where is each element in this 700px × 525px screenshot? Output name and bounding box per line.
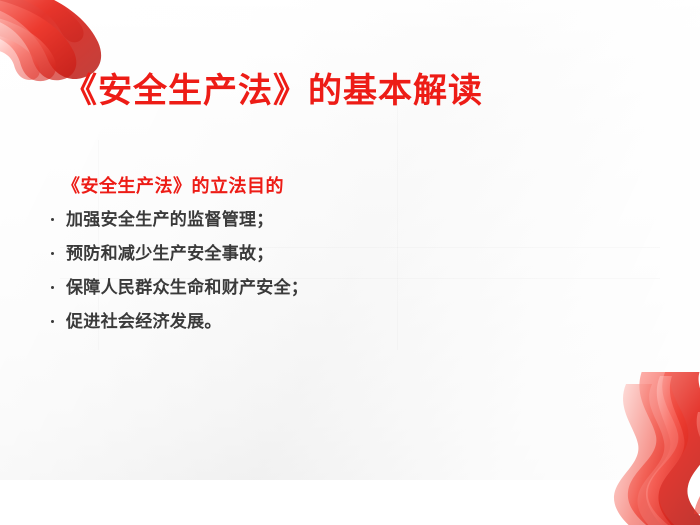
- bullet-dot-icon: [51, 218, 54, 221]
- list-item-label: 促进社会经济发展。: [66, 312, 222, 332]
- slide-footer-band: [0, 480, 700, 525]
- list-item-label: 预防和减少生产安全事故；: [66, 244, 274, 264]
- content-block: 《安全生产法》的立法目的 加强安全生产的监督管理； 预防和减少生产安全事故； 保…: [46, 174, 466, 342]
- presentation-slide: 《安全生产法》的基本解读 《安全生产法》的立法目的 加强安全生产的监督管理； 预…: [0, 0, 700, 525]
- list-item: 预防和减少生产安全事故；: [46, 240, 466, 268]
- section-subtitle: 《安全生产法》的立法目的: [62, 174, 466, 200]
- bullet-dot-icon: [51, 252, 54, 255]
- bullet-dot-icon: [51, 320, 54, 323]
- list-item: 加强安全生产的监督管理；: [46, 206, 466, 234]
- list-item-label: 加强安全生产的监督管理；: [66, 210, 274, 230]
- bullet-list: 加强安全生产的监督管理； 预防和减少生产安全事故； 保障人民群众生命和财产安全；…: [46, 206, 466, 336]
- list-item-label: 保障人民群众生命和财产安全；: [66, 278, 308, 298]
- list-item: 促进社会经济发展。: [46, 308, 466, 336]
- bullet-dot-icon: [51, 286, 54, 289]
- list-item: 保障人民群众生命和财产安全；: [46, 274, 466, 302]
- page-title: 《安全生产法》的基本解读: [63, 70, 483, 112]
